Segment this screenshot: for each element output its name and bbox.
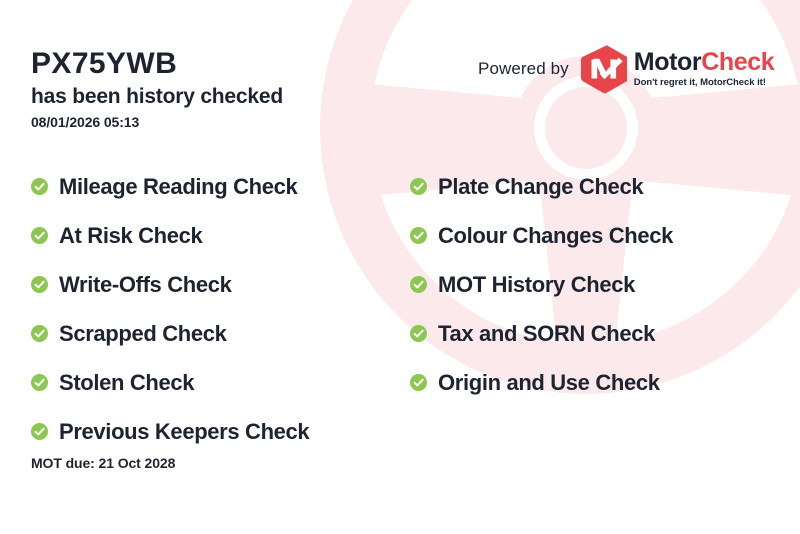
list-item: Colour Changes Check — [410, 211, 780, 260]
check-circle-icon — [410, 227, 427, 244]
registration-block: PX75YWB has been history checked 08/01/2… — [31, 48, 283, 130]
check-timestamp: 08/01/2026 05:13 — [31, 114, 283, 130]
page-title: has been history checked — [31, 83, 283, 110]
motorcheck-tagline: Don't regret it, MotorCheck it! — [634, 78, 774, 88]
list-item: Previous Keepers Check — [31, 407, 391, 456]
check-circle-icon — [31, 423, 48, 440]
check-label: Scrapped Check — [59, 323, 227, 345]
mot-due-label: MOT due: 21 Oct 2028 — [31, 455, 175, 471]
list-item: Tax and SORN Check — [410, 309, 780, 358]
wordmark-check: Check — [701, 48, 774, 76]
check-circle-icon — [31, 276, 48, 293]
check-circle-icon — [410, 325, 427, 342]
check-circle-icon — [31, 374, 48, 391]
check-circle-icon — [31, 227, 48, 244]
registration-number: PX75YWB — [31, 48, 283, 80]
check-circle-icon — [410, 374, 427, 391]
check-circle-icon — [410, 276, 427, 293]
check-label: Mileage Reading Check — [59, 176, 297, 198]
powered-by-label: Powered by — [478, 59, 569, 79]
wordmark-motor: Motor — [634, 48, 701, 76]
check-label: Write-Offs Check — [59, 274, 231, 296]
list-item: Mileage Reading Check — [31, 162, 391, 211]
list-item: Origin and Use Check — [410, 358, 780, 407]
check-label: Colour Changes Check — [438, 225, 673, 247]
motorcheck-wordmark-block: MotorCheck Don't regret it, MotorCheck i… — [634, 50, 774, 88]
card-header: PX75YWB has been history checked 08/01/2… — [0, 0, 800, 140]
check-label: Previous Keepers Check — [59, 421, 309, 443]
check-label: Origin and Use Check — [438, 372, 660, 394]
checks-column-right: Plate Change Check Colour Changes Check … — [410, 162, 780, 407]
check-label: Tax and SORN Check — [438, 323, 655, 345]
list-item: Plate Change Check — [410, 162, 780, 211]
motorcheck-logo[interactable]: MotorCheck Don't regret it, MotorCheck i… — [581, 44, 774, 94]
powered-by-block: Powered by MotorCheck Don't regret it, M… — [478, 44, 774, 94]
check-label: At Risk Check — [59, 225, 202, 247]
check-label: Plate Change Check — [438, 176, 643, 198]
check-label: MOT History Check — [438, 274, 635, 296]
list-item: Scrapped Check — [31, 309, 391, 358]
list-item: MOT History Check — [410, 260, 780, 309]
check-circle-icon — [410, 178, 427, 195]
checks-column-left: Mileage Reading Check At Risk Check Writ… — [31, 162, 391, 456]
check-circle-icon — [31, 325, 48, 342]
check-label: Stolen Check — [59, 372, 194, 394]
vehicle-history-check-card: PX75YWB has been history checked 08/01/2… — [0, 0, 800, 534]
check-circle-icon — [31, 178, 48, 195]
list-item: At Risk Check — [31, 211, 391, 260]
motorcheck-wordmark: MotorCheck — [634, 50, 774, 75]
list-item: Stolen Check — [31, 358, 391, 407]
motorcheck-hexagon-m-check-icon — [581, 44, 627, 94]
list-item: Write-Offs Check — [31, 260, 391, 309]
